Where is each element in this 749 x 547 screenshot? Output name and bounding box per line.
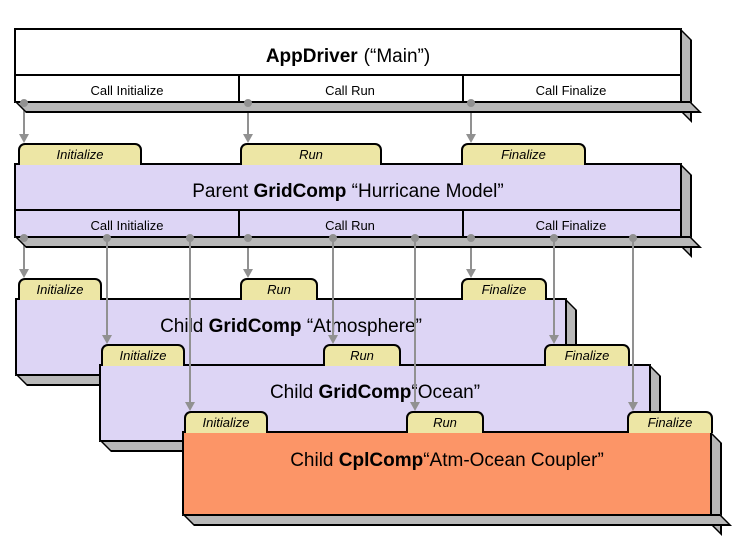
tab-ocean-initialize[interactable]: Initialize xyxy=(101,344,185,366)
ocean-kind: GridComp xyxy=(319,382,412,403)
parent-call-initialize[interactable]: Call Initialize xyxy=(16,219,238,232)
appdriver-call-initialize[interactable]: Call Initialize xyxy=(16,84,238,97)
atmosphere-title: Child GridComp “Atmosphere” xyxy=(17,317,565,336)
arrow-head-parent-run-cpl xyxy=(410,402,420,411)
appdriver-shadow-bottom xyxy=(14,101,702,113)
parent-name: “Hurricane Model” xyxy=(346,181,503,202)
arrow-head-parent-fin-ocn xyxy=(549,335,559,344)
tab-atmosphere-initialize[interactable]: Initialize xyxy=(18,278,102,300)
coupler-role: Child xyxy=(290,450,339,471)
appdriver-title: AppDriver(“Main”) xyxy=(16,47,680,66)
arrow-dot-parent-fin-ocn xyxy=(550,234,558,242)
atmosphere-name: “Atmosphere” xyxy=(302,316,422,337)
diagram-canvas: AppDriver(“Main”) Call Initialize Call R… xyxy=(0,0,749,547)
arrow-dot-parent-fin-cpl xyxy=(629,234,637,242)
arrow-head-parent-init-atm xyxy=(19,269,29,278)
arrow-head-parent-init-ocn xyxy=(102,335,112,344)
coupler-shadow-bottom xyxy=(182,514,732,526)
arrow-head-appdriver-run xyxy=(243,134,253,143)
tab-ocean-finalize[interactable]: Finalize xyxy=(544,344,630,366)
arrow-head-parent-fin-atm xyxy=(466,269,476,278)
arrow-line-parent-run-ocn xyxy=(332,238,334,340)
tab-ocean-run[interactable]: Run xyxy=(323,344,401,366)
arrow-dot-parent-init-ocn xyxy=(103,234,111,242)
ocean-role: Child xyxy=(270,382,319,403)
appdriver-call-run[interactable]: Call Run xyxy=(238,84,462,97)
parent-kind: GridComp xyxy=(254,181,347,202)
parent-shadow-bottom xyxy=(14,236,702,248)
arrow-head-parent-run-ocn xyxy=(328,335,338,344)
appdriver-call-finalize[interactable]: Call Finalize xyxy=(462,84,680,97)
parent-title: Parent GridComp “Hurricane Model” xyxy=(16,182,680,201)
arrow-dot-parent-init-atm xyxy=(20,234,28,242)
arrow-line-parent-init-ocn xyxy=(106,238,108,340)
component-box-coupler: Child CplComp“Atm-Ocean Coupler” xyxy=(182,431,712,516)
arrow-dot-parent-run-ocn xyxy=(329,234,337,242)
tab-parent-run[interactable]: Run xyxy=(240,143,382,165)
arrow-dot-parent-init-cpl xyxy=(186,234,194,242)
appdriver-divider xyxy=(16,74,680,76)
ocean-title: Child GridComp“Ocean” xyxy=(101,383,649,402)
appdriver-kind: AppDriver xyxy=(266,46,358,67)
ocean-name: “Ocean” xyxy=(411,382,480,403)
component-box-appdriver: AppDriver(“Main”) Call Initialize Call R… xyxy=(14,28,682,103)
component-box-parent: Parent GridComp “Hurricane Model” Call I… xyxy=(14,163,682,238)
arrow-head-appdriver-initialize xyxy=(19,134,29,143)
coupler-title: Child CplComp“Atm-Ocean Coupler” xyxy=(184,451,710,470)
tab-coupler-run[interactable]: Run xyxy=(406,411,484,433)
tab-parent-initialize[interactable]: Initialize xyxy=(18,143,142,165)
arrow-head-parent-run-atm xyxy=(243,269,253,278)
arrow-head-parent-init-cpl xyxy=(185,402,195,411)
atmosphere-role: Child xyxy=(160,316,209,337)
arrow-line-parent-fin-ocn xyxy=(553,238,555,340)
atmosphere-kind: GridComp xyxy=(209,316,302,337)
tab-atmosphere-run[interactable]: Run xyxy=(240,278,318,300)
coupler-name: “Atm-Ocean Coupler” xyxy=(423,450,604,471)
parent-divider xyxy=(16,209,680,211)
arrow-line-parent-init-cpl xyxy=(189,238,191,407)
arrow-line-parent-fin-cpl xyxy=(632,238,634,407)
arrow-head-parent-fin-cpl xyxy=(628,402,638,411)
arrow-dot-appdriver-finalize xyxy=(467,99,475,107)
arrow-dot-parent-run-atm xyxy=(244,234,252,242)
appdriver-name: (“Main”) xyxy=(364,46,431,67)
coupler-kind: CplComp xyxy=(339,450,423,471)
arrow-head-appdriver-finalize xyxy=(466,134,476,143)
parent-role: Parent xyxy=(192,181,253,202)
arrow-dot-parent-run-cpl xyxy=(411,234,419,242)
arrow-dot-appdriver-run xyxy=(244,99,252,107)
parent-call-run[interactable]: Call Run xyxy=(238,219,462,232)
arrow-dot-parent-fin-atm xyxy=(467,234,475,242)
tab-coupler-finalize[interactable]: Finalize xyxy=(627,411,713,433)
arrow-dot-appdriver-initialize xyxy=(20,99,28,107)
parent-call-finalize[interactable]: Call Finalize xyxy=(462,219,680,232)
arrow-line-parent-run-cpl xyxy=(414,238,416,407)
tab-coupler-initialize[interactable]: Initialize xyxy=(184,411,268,433)
tab-parent-finalize[interactable]: Finalize xyxy=(461,143,586,165)
tab-atmosphere-finalize[interactable]: Finalize xyxy=(461,278,547,300)
